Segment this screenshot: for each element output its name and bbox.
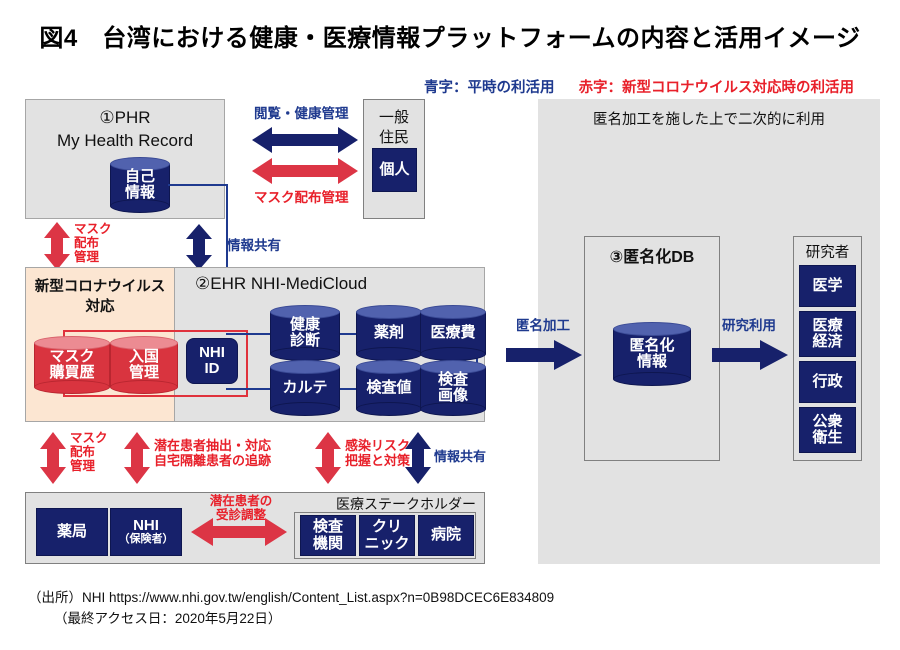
- phr-cyl-l2: 情報: [125, 184, 155, 201]
- covid-entry-management-cylinder: 入国 管理: [110, 336, 178, 394]
- researchers-title: 研究者: [793, 241, 862, 262]
- ehr-cyl-r2c3-l1: 検査: [438, 371, 468, 388]
- phr-resident-top-label: 閲覧・健康管理: [254, 106, 349, 121]
- stakeholder-red-double-arrow: [191, 518, 287, 546]
- mid-arrow-1-label: マスク 配布 管理: [70, 431, 108, 473]
- ehr-cyl-r1c1-l2: 診断: [290, 332, 320, 349]
- clinic-label: クリ ニック: [364, 519, 409, 551]
- ehr-cyl-r1c2-label: 薬剤: [356, 325, 422, 341]
- ehr-connector-c1c2-r1: [340, 333, 356, 335]
- researcher-2-l1: 医療: [812, 317, 842, 334]
- phr-covid-red-vertical-arrow: [44, 222, 70, 270]
- clinic-l2: ニック: [364, 535, 409, 552]
- nhi-insurer-sub: （保険者）: [119, 534, 174, 546]
- ehr-title: ②EHR NHI-MediCloud: [195, 274, 367, 294]
- phr-cyl-l1: 自己: [125, 168, 155, 185]
- mid-arrow-2-red: [124, 432, 150, 484]
- phr-covid-arrow-l3: 管理: [74, 250, 99, 264]
- anonymized-db-cylinder: 匿名化 情報: [613, 322, 691, 386]
- figure-canvas: 図4 台湾における健康・医療情報プラットフォームの内容と活用イメージ 青字：平時…: [0, 0, 900, 650]
- ehr-health-checkup-cylinder: 健康 診断: [270, 305, 340, 361]
- covid-connector-bottom: [63, 395, 248, 397]
- stakeholder-testing-org-box: 検査 機関: [300, 515, 356, 556]
- nhi-insurer-main: NHI: [133, 518, 159, 534]
- ehr-chart-cylinder: カルテ: [270, 360, 340, 416]
- researcher-2-l2: 経済: [812, 333, 842, 350]
- source-line-2: （最終アクセス日：2020年5月22日）: [28, 609, 848, 630]
- ehr-cyl-r2c3-label: 検査 画像: [420, 372, 486, 404]
- ehr-medical-cost-cylinder: 医療費: [420, 305, 486, 361]
- ehr-connector-c1c2-r2: [340, 388, 356, 390]
- phr-to-ehr-connector-h: [168, 184, 228, 186]
- nhi-id-box: NHI ID: [186, 338, 238, 384]
- secondary-use-banner: 匿名加工を施した上で二次的に利用: [538, 108, 880, 129]
- covid-cyl1-l1: マスク: [49, 348, 94, 365]
- phr-resident-bottom-label: マスク配布管理: [254, 190, 349, 205]
- covid-connector-top: [63, 330, 248, 332]
- residents-title-line2: 住民: [364, 126, 424, 147]
- nhi-id-l2: ID: [205, 360, 220, 377]
- anonymize-arrow: [506, 340, 582, 370]
- researcher-administration-box: 行政: [799, 361, 856, 403]
- covid-cyl1-label: マスク 購買歴: [34, 349, 110, 381]
- mid-arrow-1-l2: 配布: [70, 445, 95, 459]
- researcher-public-health-box: 公衆 衛生: [799, 407, 856, 453]
- covid-connector-right: [246, 330, 248, 397]
- stakeholder-nhi-box: NHI （保険者）: [110, 508, 182, 556]
- stakeholder-hospital-box: 病院: [418, 515, 474, 556]
- researcher-4-l2: 衛生: [812, 429, 842, 446]
- pharmacy-label: 薬局: [57, 524, 87, 540]
- covid-title-line1: 新型コロナウイルス: [26, 275, 174, 296]
- ehr-cyl-r2c1-label: カルテ: [270, 380, 340, 396]
- ehr-test-image-cylinder: 検査 画像: [420, 360, 486, 416]
- ehr-test-value-cylinder: 検査値: [356, 360, 422, 416]
- figure-title: 図4 台湾における健康・医療情報プラットフォームの内容と活用イメージ: [0, 18, 900, 53]
- resident-individual-box: 個人: [372, 148, 417, 192]
- phr-title-line1: ①PHR: [26, 108, 224, 128]
- anon-cyl-l2: 情報: [637, 353, 667, 370]
- mid-arrow-4-blue: [405, 432, 431, 484]
- ehr-cyl-r2c2-label: 検査値: [356, 380, 422, 396]
- mid-arrow-3-l2: 把握と対策: [345, 453, 410, 468]
- covid-cyl2-label: 入国 管理: [110, 349, 178, 381]
- phr-ehr-blue-vertical-arrow: [186, 224, 212, 270]
- stakeholder-group-title: 医療ステークホルダー: [336, 494, 476, 514]
- source-note: （出所）NHI https://www.nhi.gov.tw/english/C…: [28, 588, 848, 630]
- anonymized-db-cyl-label: 匿名化 情報: [613, 338, 691, 370]
- researcher-2-label: 医療 経済: [812, 318, 842, 350]
- phr-covid-arrow-label: マスク 配布 管理: [74, 222, 112, 264]
- legend-blue-text: 青字：平時の利活用: [424, 80, 555, 96]
- anonymize-arrow-label: 匿名加工: [516, 318, 570, 333]
- ehr-cyl-r2c3-l2: 画像: [438, 387, 468, 404]
- stakeholder-arrow-l1: 潜在患者の: [210, 494, 273, 508]
- researcher-1-label: 医学: [812, 278, 842, 294]
- researcher-medicine-box: 医学: [799, 265, 856, 307]
- ehr-medicine-cylinder: 薬剤: [356, 305, 422, 361]
- testing-org-l1: 検査: [313, 518, 343, 535]
- phr-ehr-arrow-label: 情報共有: [227, 238, 281, 253]
- phr-covid-arrow-l2: 配布: [74, 236, 99, 250]
- phr-resident-red-arrow: [252, 158, 358, 184]
- research-use-arrow: [712, 340, 788, 370]
- covid-cyl2-l1: 入国: [129, 348, 159, 365]
- anon-cyl-l1: 匿名化: [629, 337, 674, 354]
- stakeholder-clinic-box: クリ ニック: [359, 515, 415, 556]
- hospital-label: 病院: [431, 527, 461, 543]
- phr-resident-blue-arrow: [252, 127, 358, 153]
- residents-title-line1: 一般: [364, 106, 424, 127]
- phr-covid-arrow-l1: マスク: [74, 222, 112, 236]
- covid-title-line2: 対応: [26, 295, 174, 316]
- testing-org-l2: 機関: [313, 535, 343, 552]
- mid-arrow-1-l1: マスク: [70, 431, 108, 445]
- nhi-id-label: NHI ID: [199, 345, 225, 377]
- source-line-1: （出所）NHI https://www.nhi.gov.tw/english/C…: [28, 588, 848, 609]
- covid-cyl2-l2: 管理: [129, 364, 159, 381]
- covid-mask-purchase-cylinder: マスク 購買歴: [34, 336, 110, 394]
- phr-self-info-cylinder: 自己 情報: [110, 157, 170, 213]
- mid-arrow-2-l1: 潜在患者抽出・対応: [154, 438, 271, 453]
- researcher-health-economics-box: 医療 経済: [799, 311, 856, 357]
- researcher-3-label: 行政: [812, 374, 842, 390]
- mid-arrow-1-red: [40, 432, 66, 484]
- researcher-4-l1: 公衆: [812, 413, 842, 430]
- phr-title-line2: My Health Record: [26, 131, 224, 151]
- nhi-id-l1: NHI: [199, 344, 225, 361]
- covid-cyl1-l2: 購買歴: [49, 364, 94, 381]
- ehr-cyl-r1c1-label: 健康 診断: [270, 317, 340, 349]
- legend: 青字：平時の利活用 赤字：新型コロナウイルス対応時の利活用: [424, 76, 880, 97]
- testing-org-label: 検査 機関: [313, 519, 343, 551]
- research-use-arrow-label: 研究利用: [722, 318, 776, 333]
- anonymized-db-title: ③匿名化DB: [584, 243, 720, 267]
- ehr-cyl-r1c1-l1: 健康: [290, 316, 320, 333]
- legend-red-text: 赤字：新型コロナウイルス対応時の利活用: [579, 80, 855, 96]
- mid-arrow-2-l2: 自宅隔離患者の追跡: [154, 453, 271, 468]
- mid-arrow-2-label: 潜在患者抽出・対応 自宅隔離患者の追跡: [154, 439, 271, 468]
- mid-arrow-1-l3: 管理: [70, 459, 95, 473]
- mid-arrow-4-label: 情報共有: [434, 450, 486, 465]
- researcher-4-label: 公衆 衛生: [812, 414, 842, 446]
- ehr-cyl-r1c3-label: 医療費: [420, 325, 486, 341]
- phr-cylinder-label: 自己 情報: [110, 169, 170, 201]
- clinic-l1: クリ: [372, 518, 402, 535]
- mid-arrow-3-red: [315, 432, 341, 484]
- stakeholder-pharmacy-box: 薬局: [36, 508, 108, 556]
